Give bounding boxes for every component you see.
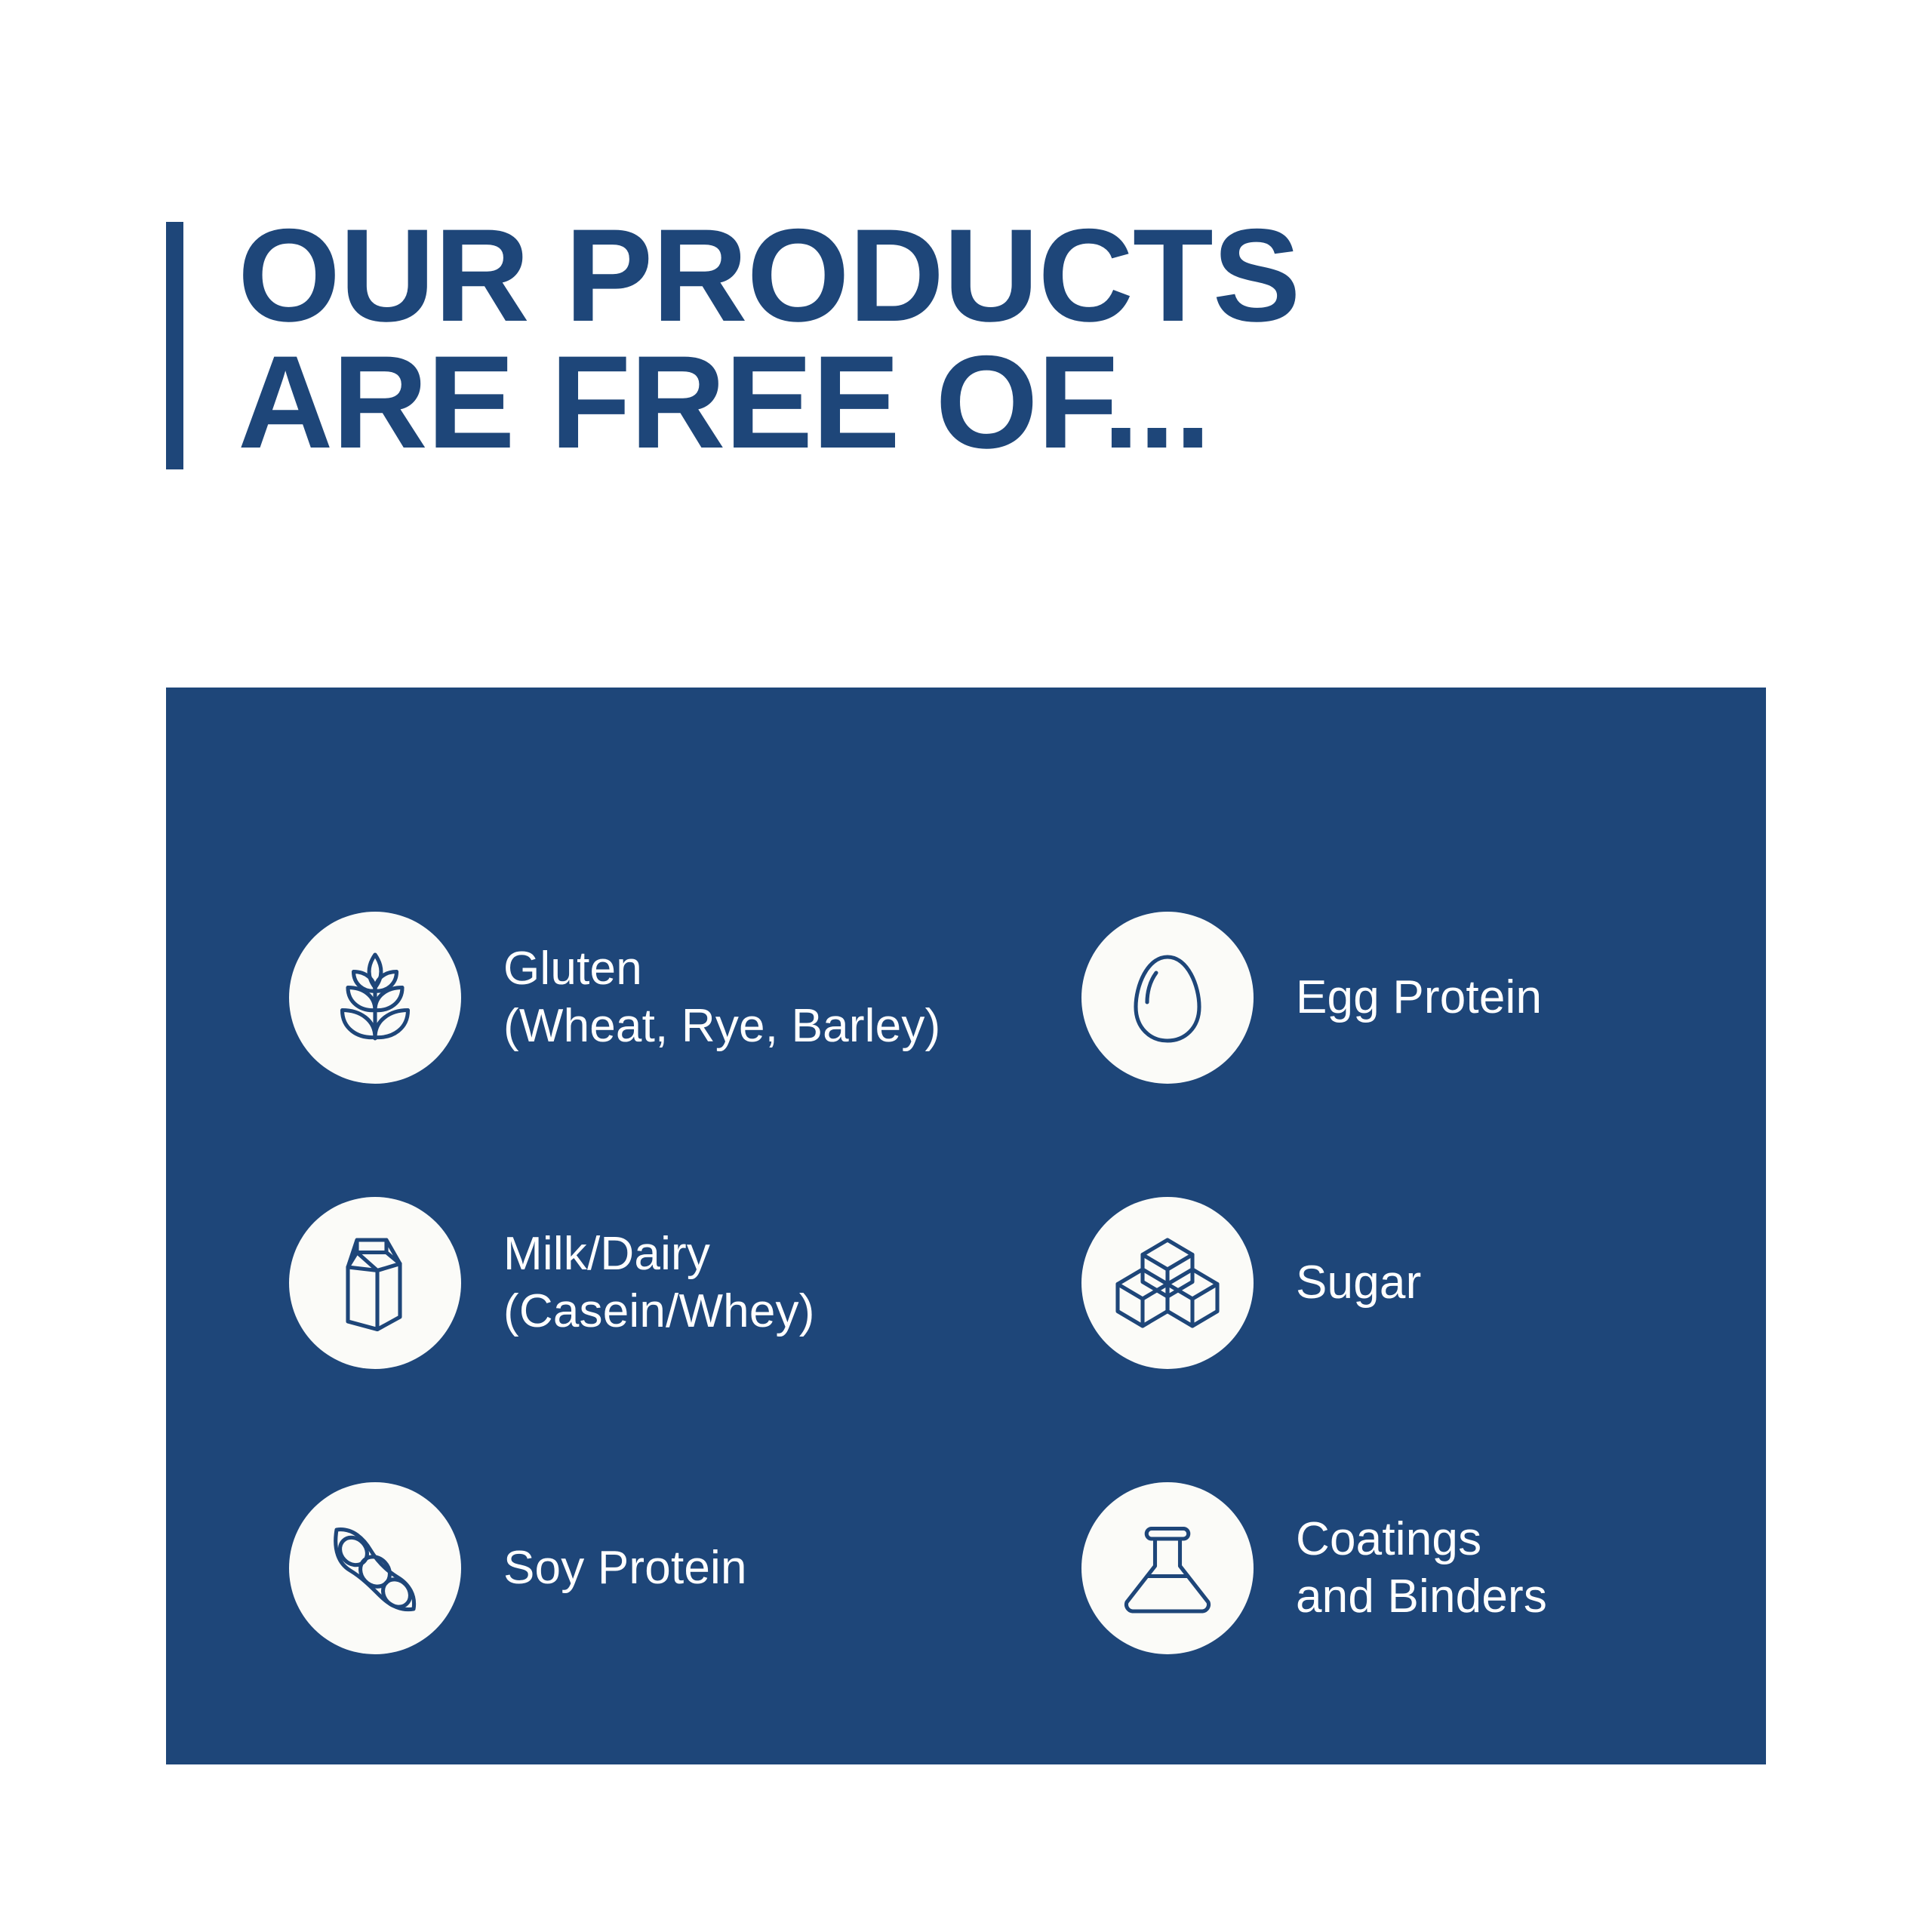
soybean-pod-icon bbox=[289, 1482, 461, 1654]
list-item-sugar: Sugar bbox=[1081, 1140, 1874, 1426]
list-item-milk-dairy: Milk/Dairy (Casein/Whey) bbox=[289, 1140, 1081, 1426]
list-item-label: Sugar bbox=[1296, 1254, 1421, 1312]
page-title: OUR PRODUCTS ARE FREE OF... bbox=[238, 213, 1300, 466]
page-title-line-2: ARE FREE OF... bbox=[238, 340, 1300, 466]
list-item-label: Egg Protein bbox=[1296, 969, 1542, 1026]
list-item-egg-protein: Egg Protein bbox=[1081, 855, 1874, 1140]
lab-flask-icon bbox=[1081, 1482, 1254, 1654]
list-item-coatings-and-binders: Coatings and Binders bbox=[1081, 1426, 1874, 1711]
list-item-soy-protein: Soy Protein bbox=[289, 1426, 1081, 1711]
page-header: OUR PRODUCTS ARE FREE OF... bbox=[166, 213, 1300, 469]
page-title-line-1: OUR PRODUCTS bbox=[238, 213, 1300, 340]
list-item-gluten: Gluten (Wheat, Rye, Barley) bbox=[289, 855, 1081, 1140]
list-item-label: Gluten (Wheat, Rye, Barley) bbox=[503, 940, 940, 1054]
list-item-label: Coatings and Binders bbox=[1296, 1511, 1547, 1625]
free-of-panel: Gluten (Wheat, Rye, Barley) Egg Protein bbox=[166, 688, 1766, 1764]
milk-carton-icon bbox=[289, 1197, 461, 1369]
title-accent-bar bbox=[166, 222, 183, 469]
wheat-grain-icon bbox=[289, 912, 461, 1084]
sugar-cubes-icon bbox=[1081, 1197, 1254, 1369]
list-item-label: Soy Protein bbox=[503, 1540, 747, 1597]
list-item-label: Milk/Dairy (Casein/Whey) bbox=[503, 1226, 815, 1340]
free-of-items-grid: Gluten (Wheat, Rye, Barley) Egg Protein bbox=[289, 855, 1874, 1711]
egg-icon bbox=[1081, 912, 1254, 1084]
